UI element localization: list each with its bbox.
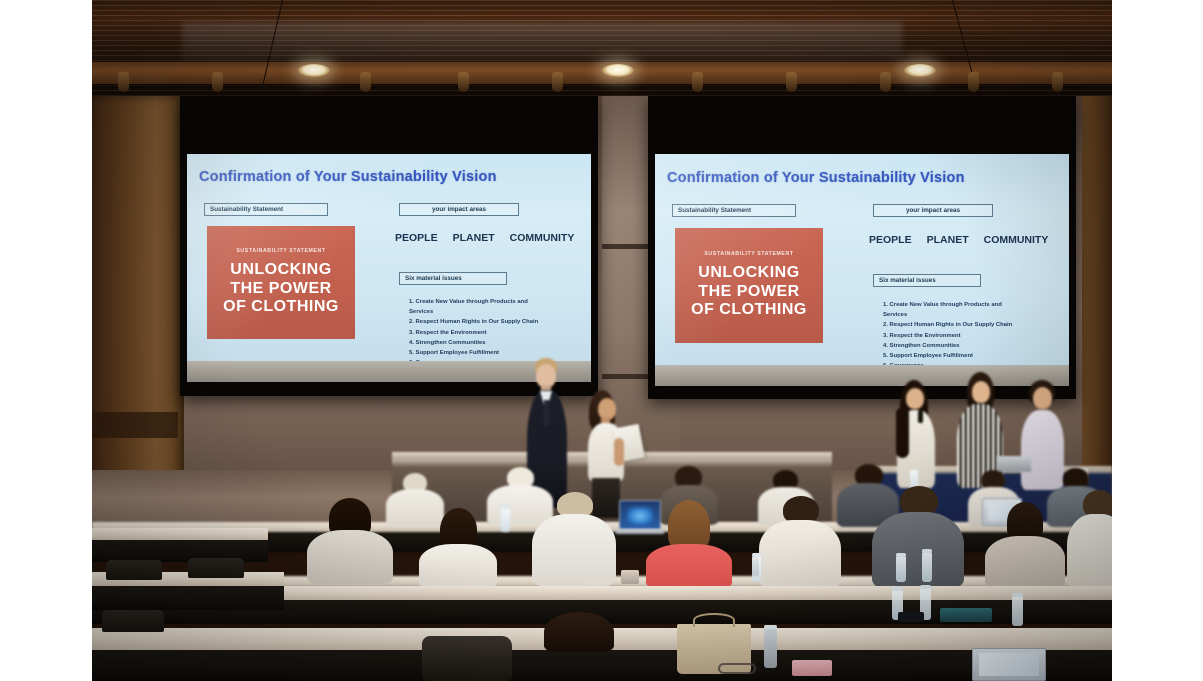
material-issues-list: 1. Create New Value through Products and… xyxy=(409,297,538,368)
empty-chair-2 xyxy=(188,558,244,578)
sustainability-statement-box: SUSTAINABILITY STATEMENT UNLOCKING THE P… xyxy=(207,226,355,339)
bottle-6-cap xyxy=(920,585,931,589)
impact-areas-row-right: PEOPLE PLANET COMMUNITY xyxy=(869,234,1048,246)
right-projection-screen[interactable]: Confirmation of Your Sustainability Visi… xyxy=(648,96,1076,399)
ceiling-spotlight-10 xyxy=(1052,72,1063,92)
audience-bottle-4 xyxy=(752,556,761,582)
ceiling-light-beam xyxy=(92,62,1112,84)
audience-backpack xyxy=(422,636,512,681)
impact-area-people-right: PEOPLE xyxy=(869,234,912,246)
wall-recess xyxy=(92,412,178,438)
impact-area-planet: PLANET xyxy=(453,232,495,244)
statement-line-1: UNLOCKING xyxy=(230,261,331,280)
material-issue-3-right: 3. Respect the Environment xyxy=(883,331,1012,341)
sustainability-statement-box-right: SUSTAINABILITY STATEMENT UNLOCKING THE P… xyxy=(675,228,823,343)
panelist-left-microphone xyxy=(918,410,923,423)
audience-phone xyxy=(898,612,924,622)
ceiling-spotlight-lit-3 xyxy=(904,64,936,77)
ceiling-spotlight-5 xyxy=(552,72,563,92)
empty-chair-3 xyxy=(102,610,164,632)
bottle-8-cap xyxy=(764,625,777,629)
audience-r2-8-body xyxy=(1067,514,1112,588)
empty-desk-row-a xyxy=(92,528,268,562)
audience-bottle-2 xyxy=(896,556,906,582)
impact-area-people: PEOPLE xyxy=(395,232,438,244)
audience-person-r2-1 xyxy=(307,498,393,582)
audience-person-r2-2 xyxy=(419,508,497,584)
statement-line-3-right: OF CLOTHING xyxy=(691,301,807,320)
audience-bottle-7 xyxy=(1012,596,1023,626)
left-screen-surface: Confirmation of Your Sustainability Visi… xyxy=(187,154,591,382)
impact-area-planet-right: PLANET xyxy=(927,234,969,246)
impact-areas-row: PEOPLE PLANET COMMUNITY xyxy=(395,232,574,244)
statement-line-3: OF CLOTHING xyxy=(223,298,339,317)
presenter-woman-arm xyxy=(614,438,624,466)
material-issue-1a-right: 1. Create New Value through Products and xyxy=(883,300,1012,310)
statement-line-2-right: THE POWER xyxy=(698,283,799,302)
ceiling-spotlight-8 xyxy=(880,72,891,92)
audience-laptop-3 xyxy=(972,648,1046,681)
ceiling-spotlight-3 xyxy=(360,72,371,92)
panelist-right-head xyxy=(1033,387,1052,409)
material-issue-1a: 1. Create New Value through Products and xyxy=(409,297,538,307)
panelist-left-head xyxy=(906,388,924,409)
audience-r2-7-body xyxy=(985,536,1065,588)
audience-r2-1-body xyxy=(307,530,393,584)
empty-chair-1 xyxy=(106,560,162,580)
empty-desk-b-front xyxy=(92,586,284,610)
left-slide: Confirmation of Your Sustainability Visi… xyxy=(187,154,591,382)
audience-person-r2-5 xyxy=(759,496,841,586)
material-issues-list-right: 1. Create New Value through Products and… xyxy=(883,300,1012,371)
audience-bottle-8 xyxy=(764,628,777,668)
audience-person-r2-3 xyxy=(532,492,616,584)
audience-eyeglasses xyxy=(718,663,756,674)
left-wood-wall-panel xyxy=(92,96,184,516)
panelist-center-head xyxy=(972,381,990,403)
ceiling-spotlight-9 xyxy=(968,72,979,92)
label-impact-areas-right: your impact areas xyxy=(873,204,993,217)
bottle-4-cap xyxy=(752,553,761,557)
material-issue-3: 3. Respect the Environment xyxy=(409,328,538,338)
impact-area-community: COMMUNITY xyxy=(510,232,575,244)
audience-head-foreground xyxy=(544,612,614,652)
audience-tablet xyxy=(940,608,992,622)
audience-r2-2-body xyxy=(419,544,497,588)
ceiling-spotlight-2 xyxy=(212,72,223,92)
bottle-5-cap xyxy=(892,587,903,591)
desk-row-4-front xyxy=(92,650,1112,681)
left-projection-screen[interactable]: Confirmation of Your Sustainability Visi… xyxy=(180,96,598,396)
statement-line-2: THE POWER xyxy=(230,280,331,299)
statement-line-1-right: UNLOCKING xyxy=(698,264,799,283)
material-issue-2: 2. Respect Human Rights in Our Supply Ch… xyxy=(409,317,538,327)
material-issue-4-right: 4. Strengthen Communities xyxy=(883,341,1012,351)
audience-bottle-1 xyxy=(501,508,510,532)
right-slide: Confirmation of Your Sustainability Visi… xyxy=(655,154,1069,386)
tote-bag-handle xyxy=(693,613,734,627)
bottle-3-cap xyxy=(922,549,932,553)
statement-kicker-right: SUSTAINABILITY STATEMENT xyxy=(704,251,793,257)
audience-notebook-1 xyxy=(621,570,639,584)
impact-area-community-right: COMMUNITY xyxy=(984,234,1049,246)
bottle-2-cap xyxy=(896,553,906,557)
ceiling-light-wash xyxy=(182,22,902,66)
audience-person-r2-6 xyxy=(872,486,964,586)
lecture-hall-photo: Confirmation of Your Sustainability Visi… xyxy=(92,0,1112,681)
audience-r2-3-body xyxy=(532,514,616,586)
label-six-material-issues-right: Six material issues xyxy=(873,274,981,287)
ceiling-spotlight-6 xyxy=(692,72,703,92)
label-sustainability-statement-right: Sustainability Statement xyxy=(672,204,796,217)
audience-person-r2-4 xyxy=(646,500,732,586)
right-screen-bottom-strip xyxy=(655,365,1069,386)
ceiling-spotlight-lit-1 xyxy=(298,64,330,77)
audience-person-r2-8 xyxy=(1067,490,1112,586)
material-issue-2-right: 2. Respect Human Rights in Our Supply Ch… xyxy=(883,320,1012,330)
audience-bottle-3 xyxy=(922,552,932,582)
laptop-3-screen xyxy=(979,653,1039,676)
audience-r2-4-body xyxy=(646,544,732,588)
audience-person-r2-7 xyxy=(985,502,1065,586)
ceiling-spotlight-lit-2 xyxy=(602,64,634,77)
label-impact-areas: your impact areas xyxy=(399,203,519,216)
material-issue-1b-right: Services xyxy=(883,310,1012,320)
right-wood-wall-panel xyxy=(1082,96,1112,516)
right-screen-surface: Confirmation of Your Sustainability Visi… xyxy=(655,154,1069,386)
audience-r2-6-body xyxy=(872,512,964,588)
ceiling-spotlight-4 xyxy=(458,72,469,92)
empty-desk-a-top xyxy=(92,528,268,540)
statement-kicker: SUSTAINABILITY STATEMENT xyxy=(236,248,325,254)
label-sustainability-statement: Sustainability Statement xyxy=(204,203,328,216)
slide-title: Confirmation of Your Sustainability Visi… xyxy=(199,169,497,185)
material-issue-4: 4. Strengthen Communities xyxy=(409,338,538,348)
material-issue-5: 5. Support Employee Fulfillment xyxy=(409,348,538,358)
presenter-man-tie xyxy=(544,400,549,426)
bottle-7-cap xyxy=(1012,593,1023,597)
audience-r2-5-body xyxy=(759,520,841,588)
bottle-1-cap xyxy=(501,505,510,509)
label-six-material-issues: Six material issues xyxy=(399,272,507,285)
material-issue-1b: Services xyxy=(409,307,538,317)
material-issue-5-right: 5. Support Employee Fulfillment xyxy=(883,351,1012,361)
panelist-left-hair-front xyxy=(896,408,909,458)
screenshot-frame: Confirmation of Your Sustainability Visi… xyxy=(0,0,1203,681)
ceiling-spotlight-1 xyxy=(118,72,129,92)
slide-title-right: Confirmation of Your Sustainability Visi… xyxy=(667,170,965,186)
audience-notebook-pink xyxy=(792,660,832,676)
ceiling-spotlight-7 xyxy=(786,72,797,92)
